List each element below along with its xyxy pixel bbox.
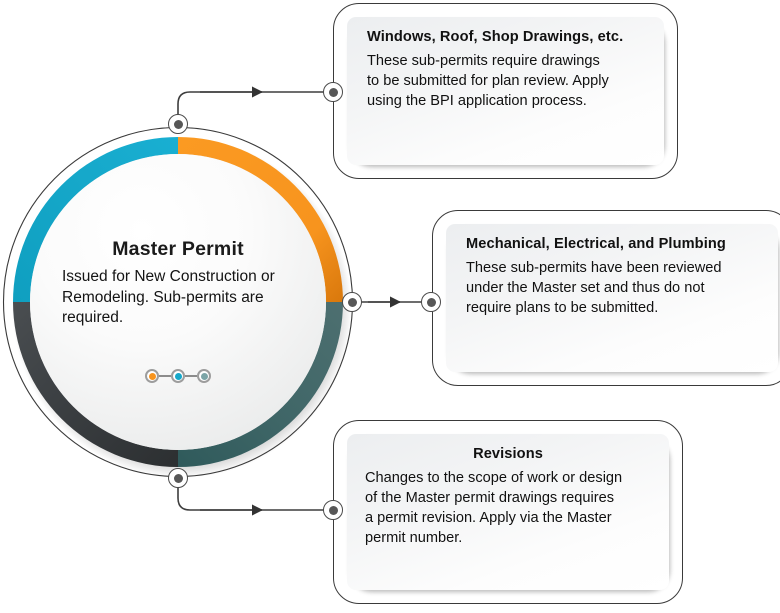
node-revisions-in-core [329, 506, 338, 515]
node-hub-top[interactable] [168, 114, 188, 134]
diagram-canvas: Master Permit Issued for New Constructio… [0, 0, 780, 613]
node-revisions-in[interactable] [323, 500, 343, 520]
node-hub-right[interactable] [342, 292, 362, 312]
node-sub-permits-in-core [329, 88, 338, 97]
node-sub-permits-in[interactable] [323, 82, 343, 102]
connector-lines [0, 0, 780, 613]
node-hub-bottom-core [174, 474, 183, 483]
connector-hub-to-revisions [178, 478, 333, 510]
node-mep-in-core [427, 298, 436, 307]
node-hub-bottom[interactable] [168, 468, 188, 488]
node-hub-right-core [348, 298, 357, 307]
connector-hub-to-sub-permits [178, 92, 333, 124]
node-hub-top-core [174, 120, 183, 129]
node-mep-in[interactable] [421, 292, 441, 312]
